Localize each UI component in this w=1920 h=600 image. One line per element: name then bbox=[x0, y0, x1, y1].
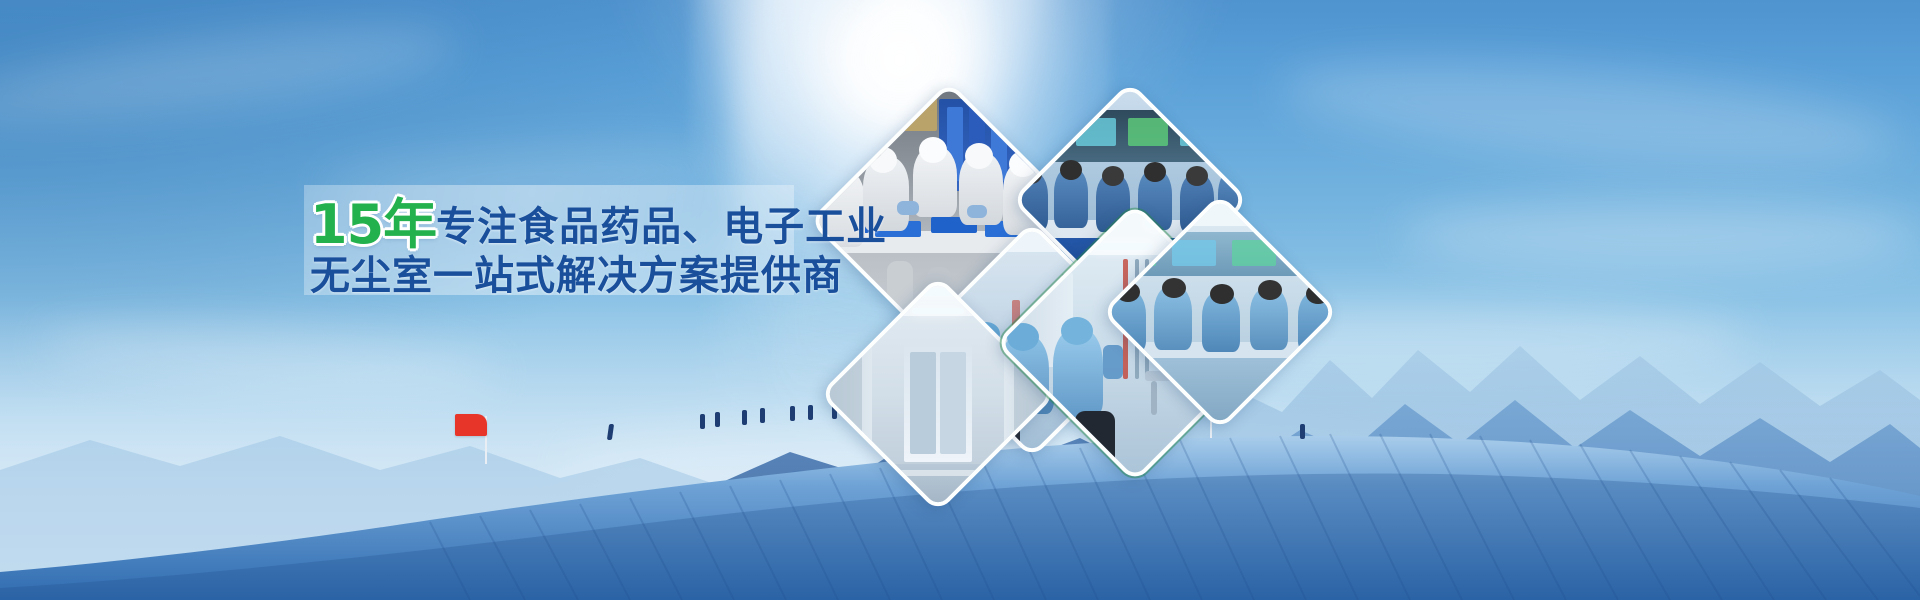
years-badge: 15年 bbox=[310, 193, 436, 256]
climber-silhouette bbox=[1300, 424, 1305, 439]
flag-cloth bbox=[455, 414, 487, 436]
slogan-line-1: 15年专注食品药品、电子工业 bbox=[310, 196, 790, 253]
climber-silhouette bbox=[742, 410, 747, 425]
climber-silhouette bbox=[808, 405, 813, 420]
climber-silhouette bbox=[790, 406, 795, 421]
slogan-text-block: 15年专注食品药品、电子工业 无尘室一站式解决方案提供商 bbox=[310, 196, 790, 298]
hero-banner: 15年专注食品药品、电子工业 无尘室一站式解决方案提供商 bbox=[0, 0, 1920, 600]
slogan-line-2: 无尘室一站式解决方案提供商 bbox=[310, 255, 790, 297]
slogan-line-1-text: 专注食品药品、电子工业 bbox=[436, 204, 887, 250]
diamond-photo-collage bbox=[836, 78, 1296, 478]
climber-silhouette bbox=[715, 412, 720, 427]
climber-silhouette bbox=[760, 408, 765, 423]
climber-silhouette bbox=[700, 414, 705, 429]
